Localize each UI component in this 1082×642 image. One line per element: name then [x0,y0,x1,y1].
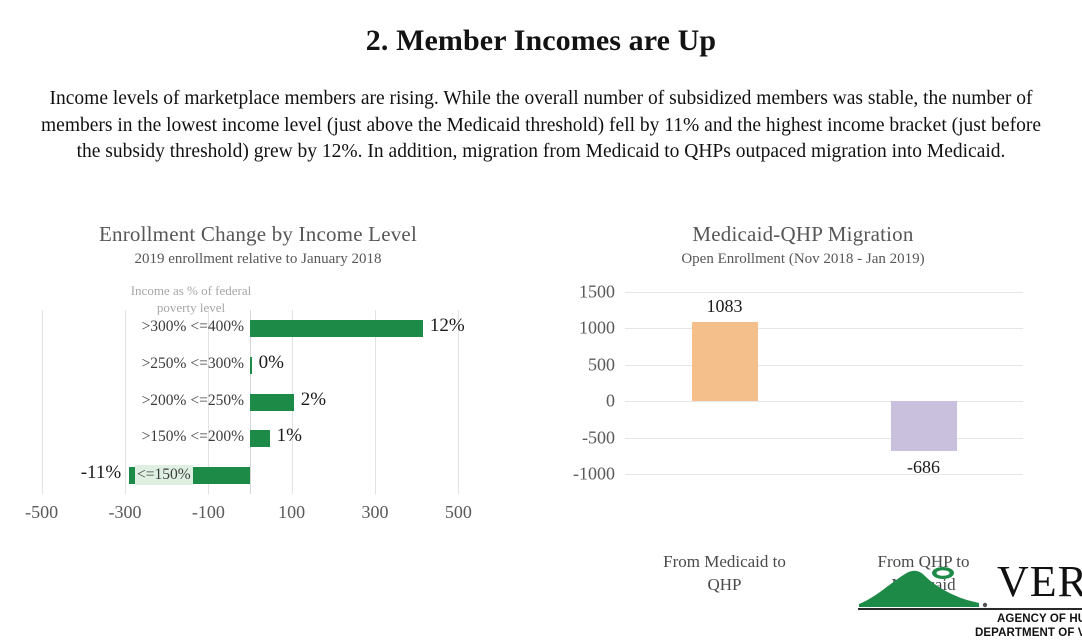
chart-medicaid-qhp-migration: Medicaid-QHP Migration Open Enrollment (… [540,222,1082,542]
bar-category-label: >300% <=400% [142,318,244,336]
plot-area-migration: 150010005000-500-10001083From Medicaid t… [625,292,1023,474]
gridline [625,328,1023,329]
y-axis-tick: -500 [582,427,615,448]
gridline [625,292,1023,293]
chart-enrollment-change: Enrollment Change by Income Level 2019 e… [0,222,540,542]
slide-body-text: Income levels of marketplace members are… [28,86,1054,166]
bar-value-label: -11% [81,462,121,484]
gridline [625,438,1023,439]
column-category-label: From Medicaid to QHP [645,550,805,596]
bar-row: >150% <=200%1% [0,420,500,457]
x-axis-enrollment: -500-300-100100300500 [0,502,520,532]
chart-subtitle-migration: Open Enrollment (Nov 2018 - Jan 2019) [568,251,1038,268]
plot-area-enrollment: >300% <=400%12%>250% <=300%0%>200% <=250… [0,310,500,494]
bar-row: >200% <=250%2% [0,384,500,421]
bar-value-label: 1% [277,425,302,447]
chart-title-enrollment: Enrollment Change by Income Level [8,222,508,247]
bar-category-label: >150% <=200% [142,428,244,446]
bar-row: <=150%-11% [0,457,500,494]
bar-category-label: >250% <=300% [142,355,244,373]
chart-subtitle-enrollment: 2019 enrollment relative to January 2018 [8,251,508,268]
bar-row: >250% <=300%0% [0,347,500,384]
y-axis-tick: 0 [606,391,615,412]
bar[interactable] [250,394,294,411]
column-value-label: 1083 [665,296,785,317]
column-bar[interactable] [692,322,758,401]
x-axis-tick: 100 [278,502,305,523]
x-axis-tick: -300 [109,502,142,523]
y-axis-tick: 500 [588,354,615,375]
bar-value-label: 12% [430,315,465,337]
x-axis-tick: 300 [362,502,389,523]
x-axis-tick: -500 [25,502,58,523]
logo-department-line: DEPARTMENT OF VERMONT HEALTH ACCES [975,627,1082,639]
y-axis-tick: -1000 [573,464,615,485]
bar[interactable] [250,357,252,374]
bar[interactable] [250,430,270,447]
gridline [625,401,1023,402]
bar[interactable] [250,320,423,337]
column-value-label: -686 [864,457,984,478]
column-bar[interactable] [891,401,957,451]
chart-title-migration: Medicaid-QHP Migration [568,222,1038,247]
slide: 2. Member Incomes are Up Income levels o… [0,0,1082,642]
logo-agency-line: AGENCY OF HUMAN SERVICE [997,613,1082,625]
gridline [625,365,1023,366]
x-axis-tick: 500 [445,502,472,523]
vermont-logo: VERMONT AGENCY OF HUMAN SERVICE DEPARTME… [855,560,1082,640]
bar-row: >300% <=400%12% [0,310,500,347]
y-axis-tick: 1000 [579,318,615,339]
logo-wordmark: VERMONT [997,556,1082,607]
page-title: 2. Member Incomes are Up [0,24,1082,58]
y-axis-tick: 1500 [579,282,615,303]
bar-category-label: >200% <=250% [142,392,244,410]
bar-category-label: <=150% [135,465,193,485]
bar-value-label: 0% [259,352,284,374]
x-axis-tick: -100 [192,502,225,523]
vermont-mountain-icon [855,564,995,610]
bar-value-label: 2% [301,389,326,411]
logo-divider [858,608,1082,610]
